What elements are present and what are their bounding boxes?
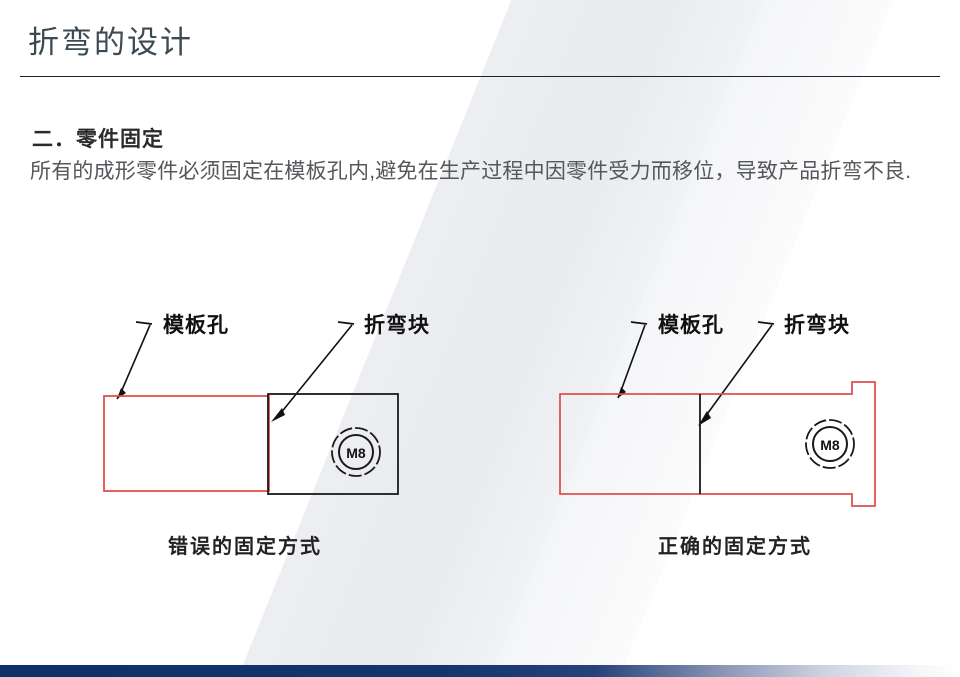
label-bend-block-right: 折弯块 [784, 313, 850, 337]
leader-line-bend-block-right [698, 322, 774, 426]
label-bend-block-left: 折弯块 [364, 313, 430, 337]
thread-label-right: M8 [820, 437, 840, 453]
slide-canvas: 折弯的设计 二．零件固定 所有的成形零件必须固定在模板孔内,避免在生产过程中因零… [0, 0, 960, 677]
template-hole-outline-left [104, 396, 269, 491]
page-title: 折弯的设计 [28, 24, 193, 62]
figure-correct: M8 [560, 322, 875, 506]
thread-label-left: M8 [346, 445, 366, 461]
section-body-text: 所有的成形零件必须固定在模板孔内,避免在生产过程中因零件受力而移位，导致产品折弯… [30, 156, 930, 187]
thread-hole-symbol-right: M8 [806, 420, 854, 468]
figure-area: M8 [0, 280, 960, 580]
thread-hole-symbol-left: M8 [332, 428, 380, 476]
section-heading: 二．零件固定 [32, 123, 164, 153]
leader-line-bend-block-left [271, 322, 354, 422]
figure-caption-correct: 正确的固定方式 [658, 530, 812, 559]
leader-line-template-hole-right [618, 322, 647, 398]
figure-wrong: M8 [104, 322, 398, 494]
footer-accent-bar [0, 665, 960, 677]
label-template-hole-right: 模板孔 [658, 313, 724, 337]
label-template-hole-left: 模板孔 [163, 313, 229, 337]
figure-caption-wrong: 错误的固定方式 [168, 530, 322, 559]
title-divider [20, 76, 940, 77]
engineering-diagram-svg: M8 [0, 280, 960, 580]
leader-line-template-hole-left [117, 322, 152, 399]
